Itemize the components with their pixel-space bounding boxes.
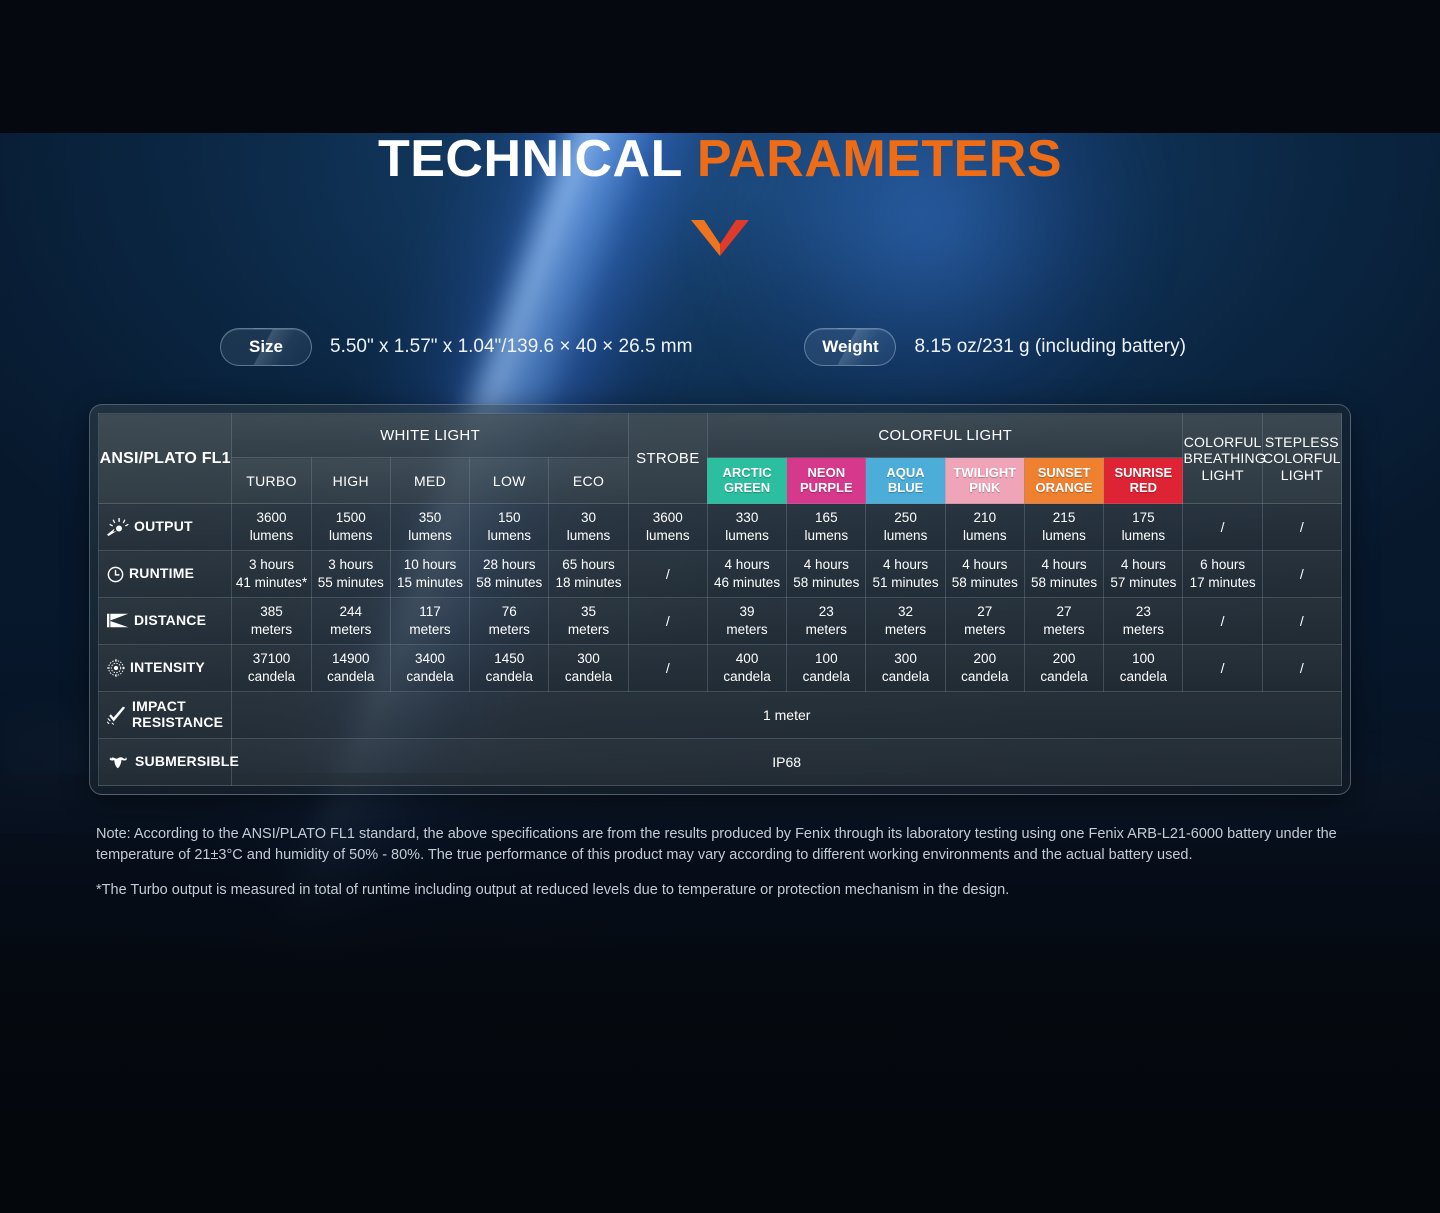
light-burst-icon bbox=[107, 518, 129, 536]
cell-unit: lumens bbox=[470, 527, 548, 545]
cell-distance-6: 39meters bbox=[707, 598, 786, 645]
cell-output-13: / bbox=[1262, 504, 1341, 551]
col-line2: COLORFUL bbox=[1263, 450, 1341, 466]
cell-runtime-10: 4 hours58 minutes bbox=[1024, 551, 1103, 598]
swatch-line2: RED bbox=[1130, 480, 1157, 495]
cell-value: 76 bbox=[470, 603, 548, 621]
cell-value: 400 bbox=[708, 650, 786, 668]
cell-value: 244 bbox=[312, 603, 390, 621]
cell-intensity-8: 300candela bbox=[866, 645, 945, 692]
cell-value: / bbox=[1183, 518, 1261, 536]
cell-unit: lumens bbox=[549, 527, 627, 545]
cell-unit: 55 minutes bbox=[312, 574, 390, 592]
row-label-text: INTENSITY bbox=[130, 660, 205, 676]
cell-value: 1500 bbox=[312, 509, 390, 527]
cell-intensity-13: / bbox=[1262, 645, 1341, 692]
cell-value: 6 hours bbox=[1183, 556, 1261, 574]
cell-unit: 58 minutes bbox=[1025, 574, 1103, 592]
row-label-submersible: SUBMERSIBLE bbox=[99, 739, 232, 786]
cell-distance-10: 27meters bbox=[1024, 598, 1103, 645]
cell-value: 100 bbox=[787, 650, 865, 668]
cell-runtime-7: 4 hours58 minutes bbox=[787, 551, 866, 598]
cell-unit: candela bbox=[391, 668, 469, 686]
swatch-line2: BLUE bbox=[888, 480, 923, 495]
col-line1: STEPLESS bbox=[1265, 434, 1339, 450]
group-white-light: WHITE LIGHT bbox=[232, 414, 628, 458]
cell-value: 4 hours bbox=[708, 556, 786, 574]
cell-value: 1450 bbox=[470, 650, 548, 668]
cell-value: 39 bbox=[708, 603, 786, 621]
cell-output-10: 215lumens bbox=[1024, 504, 1103, 551]
cell-value: 3 hours bbox=[312, 556, 390, 574]
cell-runtime-5: / bbox=[628, 551, 707, 598]
weight-value: 8.15 oz/231 g (including battery) bbox=[914, 336, 1185, 358]
cell-unit: 46 minutes bbox=[708, 574, 786, 592]
cell-value: 117 bbox=[391, 603, 469, 621]
swatch-line1: TWILIGHT bbox=[953, 465, 1016, 480]
note-ansi: Note: According to the ANSI/PLATO FL1 st… bbox=[96, 824, 1344, 865]
cell-unit: 58 minutes bbox=[946, 574, 1024, 592]
cell-value: / bbox=[1263, 518, 1341, 536]
cell-value: / bbox=[629, 565, 707, 583]
cell-unit: candela bbox=[312, 668, 390, 686]
cell-runtime-8: 4 hours51 minutes bbox=[866, 551, 945, 598]
cell-output-2: 350lumens bbox=[390, 504, 469, 551]
cell-intensity-3: 1450candela bbox=[470, 645, 549, 692]
col-colorful-breathing-light: COLORFUL BREATHING LIGHT bbox=[1183, 414, 1262, 504]
cell-unit: lumens bbox=[1025, 527, 1103, 545]
cell-unit: lumens bbox=[312, 527, 390, 545]
cell-value: 200 bbox=[1025, 650, 1103, 668]
clock-icon bbox=[107, 566, 124, 583]
cell-unit: meters bbox=[312, 621, 390, 639]
cell-output-11: 175lumens bbox=[1104, 504, 1183, 551]
cell-unit: candela bbox=[232, 668, 310, 686]
cell-value: 165 bbox=[787, 509, 865, 527]
page-title: TECHNICAL PARAMETERS bbox=[0, 133, 1440, 185]
cell-intensity-12: / bbox=[1183, 645, 1262, 692]
row-label-text: IMPACTRESISTANCE bbox=[132, 699, 223, 730]
row-label-text: RUNTIME bbox=[129, 566, 194, 582]
cell-runtime-4: 65 hours18 minutes bbox=[549, 551, 628, 598]
water-drop-icon bbox=[107, 754, 130, 769]
cell-value: 27 bbox=[946, 603, 1024, 621]
cell-unit: candela bbox=[470, 668, 548, 686]
cell-distance-7: 23meters bbox=[787, 598, 866, 645]
cell-unit: candela bbox=[1025, 668, 1103, 686]
cell-output-9: 210lumens bbox=[945, 504, 1024, 551]
cell-span-impact-resistance: 1 meter bbox=[232, 692, 1342, 739]
cell-unit: 58 minutes bbox=[470, 574, 548, 592]
col-color-aqua-blue: AQUA BLUE bbox=[866, 458, 945, 504]
cell-value: 300 bbox=[549, 650, 627, 668]
cell-unit: lumens bbox=[629, 527, 707, 545]
cell-runtime-9: 4 hours58 minutes bbox=[945, 551, 1024, 598]
cell-unit: candela bbox=[1104, 668, 1182, 686]
cell-value: 65 hours bbox=[549, 556, 627, 574]
cell-unit: meters bbox=[708, 621, 786, 639]
cell-value: 385 bbox=[232, 603, 310, 621]
cell-value: 3400 bbox=[391, 650, 469, 668]
specs-panel: ANSI/PLATO FL1 WHITE LIGHT STROBE COLORF… bbox=[89, 404, 1351, 795]
col-mode-low: LOW bbox=[470, 458, 549, 504]
cell-output-3: 150lumens bbox=[470, 504, 549, 551]
cell-output-0: 3600lumens bbox=[232, 504, 311, 551]
cell-unit: meters bbox=[1025, 621, 1103, 639]
cell-runtime-3: 28 hours58 minutes bbox=[470, 551, 549, 598]
cell-intensity-4: 300candela bbox=[549, 645, 628, 692]
cell-unit: candela bbox=[708, 668, 786, 686]
cell-unit: 15 minutes bbox=[391, 574, 469, 592]
cell-unit: meters bbox=[866, 621, 944, 639]
weight-pill: Weight bbox=[804, 328, 896, 366]
cell-output-12: / bbox=[1183, 504, 1262, 551]
cell-unit: meters bbox=[391, 621, 469, 639]
cell-intensity-5: / bbox=[628, 645, 707, 692]
cell-unit: meters bbox=[549, 621, 627, 639]
cell-intensity-10: 200candela bbox=[1024, 645, 1103, 692]
cell-value: 35 bbox=[549, 603, 627, 621]
row-label-text: SUBMERSIBLE bbox=[135, 754, 239, 770]
cell-value: 4 hours bbox=[866, 556, 944, 574]
col-color-arctic-green: ARCTIC GREEN bbox=[707, 458, 786, 504]
cell-runtime-13: / bbox=[1262, 551, 1341, 598]
cell-value: / bbox=[1263, 659, 1341, 677]
cell-value: 23 bbox=[787, 603, 865, 621]
cell-value: 4 hours bbox=[946, 556, 1024, 574]
cell-value: 10 hours bbox=[391, 556, 469, 574]
page-title-part2: PARAMETERS bbox=[697, 130, 1062, 188]
col-color-twilight-pink: TWILIGHT PINK bbox=[945, 458, 1024, 504]
cell-unit: meters bbox=[232, 621, 310, 639]
col-line3: LIGHT bbox=[1201, 467, 1243, 483]
row-label-text: OUTPUT bbox=[134, 519, 193, 535]
chevron-divider bbox=[0, 218, 1440, 256]
cell-unit: 18 minutes bbox=[549, 574, 627, 592]
cell-intensity-11: 100candela bbox=[1104, 645, 1183, 692]
cell-distance-5: / bbox=[628, 598, 707, 645]
cell-distance-0: 385meters bbox=[232, 598, 311, 645]
cell-value: 27 bbox=[1025, 603, 1103, 621]
cell-value: 14900 bbox=[312, 650, 390, 668]
cell-value: 300 bbox=[866, 650, 944, 668]
col-color-neon-purple: NEON PURPLE bbox=[787, 458, 866, 504]
cell-distance-13: / bbox=[1262, 598, 1341, 645]
cell-value: 3 hours bbox=[232, 556, 310, 574]
cell-value: 28 hours bbox=[470, 556, 548, 574]
cell-intensity-1: 14900candela bbox=[311, 645, 390, 692]
cell-runtime-1: 3 hours55 minutes bbox=[311, 551, 390, 598]
cell-value: 23 bbox=[1104, 603, 1182, 621]
col-line1: COLORFUL bbox=[1184, 434, 1262, 450]
specs-table: ANSI/PLATO FL1 WHITE LIGHT STROBE COLORF… bbox=[98, 413, 1342, 786]
group-colorful-light: COLORFUL LIGHT bbox=[707, 414, 1183, 458]
cell-value: / bbox=[629, 612, 707, 630]
header-row-modes: TURBO HIGH MED LOW ECO ARCTIC GREEN NEON… bbox=[99, 458, 1342, 504]
cell-runtime-11: 4 hours57 minutes bbox=[1104, 551, 1183, 598]
check-impact-icon bbox=[107, 706, 127, 725]
swatch-line1: NEON bbox=[808, 465, 846, 480]
cell-value: 330 bbox=[708, 509, 786, 527]
col-color-sunset-orange: SUNSET ORANGE bbox=[1024, 458, 1103, 504]
col-color-sunrise-red: SUNRISE RED bbox=[1104, 458, 1183, 504]
cell-intensity-7: 100candela bbox=[787, 645, 866, 692]
cell-runtime-2: 10 hours15 minutes bbox=[390, 551, 469, 598]
cell-output-6: 330lumens bbox=[707, 504, 786, 551]
cell-value: 175 bbox=[1104, 509, 1182, 527]
cell-distance-11: 23meters bbox=[1104, 598, 1183, 645]
row-label-distance: DISTANCE bbox=[99, 598, 232, 645]
cell-value: 3600 bbox=[629, 509, 707, 527]
note-turbo: *The Turbo output is measured in total o… bbox=[96, 880, 1344, 901]
beam-cone-icon bbox=[107, 613, 129, 628]
cell-value: 4 hours bbox=[1025, 556, 1103, 574]
cell-value: 32 bbox=[866, 603, 944, 621]
cell-value: 200 bbox=[946, 650, 1024, 668]
cell-value: 210 bbox=[946, 509, 1024, 527]
col-mode-high: HIGH bbox=[311, 458, 390, 504]
cell-distance-1: 244meters bbox=[311, 598, 390, 645]
cell-value: 4 hours bbox=[787, 556, 865, 574]
cell-distance-2: 117meters bbox=[390, 598, 469, 645]
size-value: 5.50" x 1.57" x 1.04"/139.6 × 40 × 26.5 … bbox=[330, 336, 692, 358]
cell-span-submersible: IP68 bbox=[232, 739, 1342, 786]
cell-value: 100 bbox=[1104, 650, 1182, 668]
chevron-down-icon bbox=[691, 218, 749, 256]
page-title-part1: TECHNICAL bbox=[378, 130, 682, 188]
cell-value: / bbox=[1263, 565, 1341, 583]
cell-runtime-12: 6 hours17 minutes bbox=[1183, 551, 1262, 598]
cell-unit: meters bbox=[946, 621, 1024, 639]
footnotes: Note: According to the ANSI/PLATO FL1 st… bbox=[96, 824, 1344, 901]
cell-value: 250 bbox=[866, 509, 944, 527]
table-head: ANSI/PLATO FL1 WHITE LIGHT STROBE COLORF… bbox=[99, 414, 1342, 504]
table-row: DISTANCE385meters244meters117meters76met… bbox=[99, 598, 1342, 645]
row-label-intensity: INTENSITY bbox=[99, 645, 232, 692]
cell-unit: meters bbox=[470, 621, 548, 639]
spec-weight: Weight 8.15 oz/231 g (including battery) bbox=[804, 328, 1185, 366]
cell-value: / bbox=[1183, 659, 1261, 677]
cell-unit: candela bbox=[549, 668, 627, 686]
cell-unit: lumens bbox=[232, 527, 310, 545]
cell-value: 350 bbox=[391, 509, 469, 527]
cell-distance-4: 35meters bbox=[549, 598, 628, 645]
cell-value: / bbox=[1183, 612, 1261, 630]
cell-distance-8: 32meters bbox=[866, 598, 945, 645]
table-corner-label: ANSI/PLATO FL1 bbox=[99, 414, 232, 504]
table-row: OUTPUT3600lumens1500lumens350lumens150lu… bbox=[99, 504, 1342, 551]
swatch-line2: PINK bbox=[969, 480, 1000, 495]
cell-intensity-2: 3400candela bbox=[390, 645, 469, 692]
cell-value: 37100 bbox=[232, 650, 310, 668]
swatch-line2: ORANGE bbox=[1036, 480, 1093, 495]
cell-unit: 51 minutes bbox=[866, 574, 944, 592]
cell-unit: 58 minutes bbox=[787, 574, 865, 592]
col-line3: LIGHT bbox=[1281, 467, 1323, 483]
cell-output-5: 3600lumens bbox=[628, 504, 707, 551]
swatch-line2: PURPLE bbox=[800, 480, 853, 495]
cell-intensity-9: 200candela bbox=[945, 645, 1024, 692]
cell-distance-12: / bbox=[1183, 598, 1262, 645]
table-row: RUNTIME3 hours41 minutes*3 hours55 minut… bbox=[99, 551, 1342, 598]
cell-runtime-6: 4 hours46 minutes bbox=[707, 551, 786, 598]
col-line2: BREATHING bbox=[1183, 450, 1265, 466]
table-row: IMPACTRESISTANCE1 meter bbox=[99, 692, 1342, 739]
cell-intensity-6: 400candela bbox=[707, 645, 786, 692]
radial-target-icon bbox=[107, 659, 125, 677]
table-body: OUTPUT3600lumens1500lumens350lumens150lu… bbox=[99, 504, 1342, 786]
cell-unit: candela bbox=[866, 668, 944, 686]
row-label-output: OUTPUT bbox=[99, 504, 232, 551]
table-row: INTENSITY37100candela14900candela3400can… bbox=[99, 645, 1342, 692]
table-row: SUBMERSIBLEIP68 bbox=[99, 739, 1342, 786]
spec-summary-row: Size 5.50" x 1.57" x 1.04"/139.6 × 40 × … bbox=[0, 328, 1440, 366]
cell-value: 4 hours bbox=[1104, 556, 1182, 574]
cell-unit: candela bbox=[946, 668, 1024, 686]
cell-value: 150 bbox=[470, 509, 548, 527]
cell-runtime-0: 3 hours41 minutes* bbox=[232, 551, 311, 598]
row-label-text: DISTANCE bbox=[134, 613, 206, 629]
cell-value: 3600 bbox=[232, 509, 310, 527]
cell-value: / bbox=[1263, 612, 1341, 630]
cell-value: 215 bbox=[1025, 509, 1103, 527]
group-strobe: STROBE bbox=[628, 414, 707, 504]
row-label-runtime: RUNTIME bbox=[99, 551, 232, 598]
cell-unit: lumens bbox=[391, 527, 469, 545]
row-label-impact: IMPACTRESISTANCE bbox=[99, 692, 232, 739]
cell-unit: lumens bbox=[946, 527, 1024, 545]
cell-unit: lumens bbox=[787, 527, 865, 545]
size-pill: Size bbox=[220, 328, 312, 366]
cell-unit: 41 minutes* bbox=[232, 574, 310, 592]
cell-unit: lumens bbox=[708, 527, 786, 545]
swatch-line1: SUNSET bbox=[1038, 465, 1091, 480]
cell-value: 30 bbox=[549, 509, 627, 527]
cell-unit: meters bbox=[787, 621, 865, 639]
cell-unit: meters bbox=[1104, 621, 1182, 639]
cell-distance-3: 76meters bbox=[470, 598, 549, 645]
cell-output-1: 1500lumens bbox=[311, 504, 390, 551]
spec-size: Size 5.50" x 1.57" x 1.04"/139.6 × 40 × … bbox=[220, 328, 692, 366]
swatch-line1: SUNRISE bbox=[1114, 465, 1172, 480]
cell-output-8: 250lumens bbox=[866, 504, 945, 551]
cell-unit: lumens bbox=[866, 527, 944, 545]
swatch-line1: AQUA bbox=[886, 465, 924, 480]
col-mode-med: MED bbox=[390, 458, 469, 504]
cell-intensity-0: 37100candela bbox=[232, 645, 311, 692]
col-mode-eco: ECO bbox=[549, 458, 628, 504]
col-stepless-colorful-light: STEPLESS COLORFUL LIGHT bbox=[1262, 414, 1341, 504]
col-mode-turbo: TURBO bbox=[232, 458, 311, 504]
swatch-line2: GREEN bbox=[724, 480, 770, 495]
swatch-line1: ARCTIC bbox=[723, 465, 772, 480]
cell-unit: candela bbox=[787, 668, 865, 686]
header-row-groups: ANSI/PLATO FL1 WHITE LIGHT STROBE COLORF… bbox=[99, 414, 1342, 458]
cell-unit: lumens bbox=[1104, 527, 1182, 545]
cell-output-4: 30lumens bbox=[549, 504, 628, 551]
cell-value: / bbox=[629, 659, 707, 677]
cell-output-7: 165lumens bbox=[787, 504, 866, 551]
cell-unit: 57 minutes bbox=[1104, 574, 1182, 592]
cell-unit: 17 minutes bbox=[1183, 574, 1261, 592]
cell-distance-9: 27meters bbox=[945, 598, 1024, 645]
